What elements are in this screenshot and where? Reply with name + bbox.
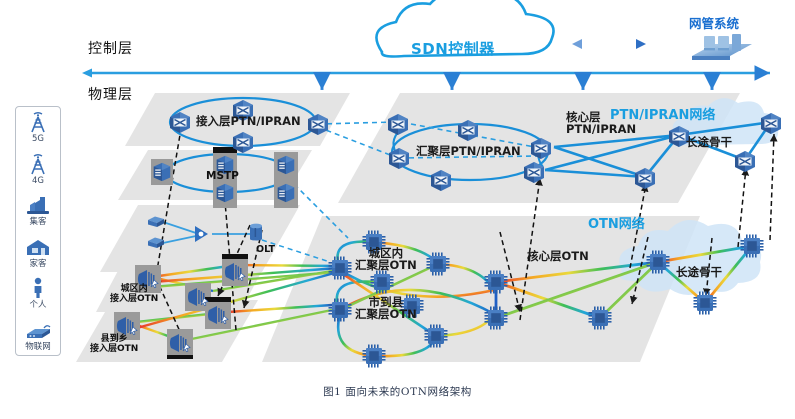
iot-gateway-icon [23, 319, 53, 341]
ptn-core-line2: PTN/IPRAN [566, 122, 636, 136]
legend-label: 家客 [29, 259, 46, 269]
ptn-backbone-label: 长途骨干 [686, 137, 732, 149]
legend-item-enterprise[interactable]: 集客 [23, 194, 53, 227]
cell-tower-icon [23, 153, 53, 175]
otn-core-label: 核心层OTN [527, 251, 589, 263]
legend-label: 个人 [29, 300, 46, 310]
server-rack-icon [692, 34, 752, 60]
control-layer-label: 控制层 [88, 38, 133, 58]
network-architecture-svg [0, 0, 795, 419]
otn-access-urban-label: 城区内 接入层OTN [110, 284, 158, 304]
customer-type-legend: 5G 4G [15, 106, 61, 356]
otn-access-county-label: 县到乡 接入层OTN [90, 334, 138, 354]
otn-agg-county-line2: 汇聚层OTN [355, 307, 417, 321]
control-bus [82, 69, 770, 78]
house-icon [23, 236, 53, 258]
diagram-canvas: 5G 4G [0, 0, 795, 419]
ptn-access-label: 接入层PTN/IPRAN [196, 116, 301, 128]
legend-label: 物联网 [25, 342, 51, 352]
legend-item-5g[interactable]: 5G [23, 111, 53, 144]
legend-label: 5G [32, 134, 44, 144]
legend-label: 4G [32, 176, 44, 186]
otn-access-urban-line2: 接入层OTN [110, 294, 158, 304]
legend-item-home[interactable]: 家客 [23, 236, 53, 269]
nms-title-label: 网管系统 [689, 13, 739, 32]
otn-network-title: OTN网络 [588, 213, 645, 232]
olt-label: OLT [256, 244, 275, 255]
ptn-core-label: 核心层 PTN/IPRAN [566, 112, 636, 135]
mstp-label: MSTP [206, 170, 239, 182]
otn-agg-urban-label: 城区内 汇聚层OTN [355, 248, 417, 271]
double-arrow-icon [572, 39, 646, 49]
otn-access-county-line1: 县到乡 [101, 334, 128, 344]
factory-icon [23, 194, 53, 216]
legend-item-personal[interactable]: 个人 [23, 277, 53, 310]
otn-backbone-label: 长途骨干 [676, 267, 722, 279]
otn-agg-urban-line2: 汇聚层OTN [355, 258, 417, 272]
legend-item-4g[interactable]: 4G [23, 153, 53, 186]
sdn-controller-label: SDN控制器 [411, 38, 495, 59]
otn-access-county-line2: 接入层OTN [90, 344, 138, 354]
otn-access-urban-line1: 城区内 [121, 284, 148, 294]
legend-label: 集客 [29, 217, 46, 227]
legend-item-iot[interactable]: 物联网 [23, 319, 53, 352]
cell-tower-icon [23, 111, 53, 133]
physical-layer-label: 物理层 [88, 84, 133, 104]
person-icon [23, 277, 53, 299]
figure-caption: 图1 面向未来的OTN网络架构 [0, 384, 795, 399]
ptn-aggregation-label: 汇聚层PTN/IPRAN [416, 146, 521, 158]
control-to-physical-arrows [322, 78, 712, 90]
otn-agg-county-label: 市到县 汇聚层OTN [355, 297, 417, 320]
